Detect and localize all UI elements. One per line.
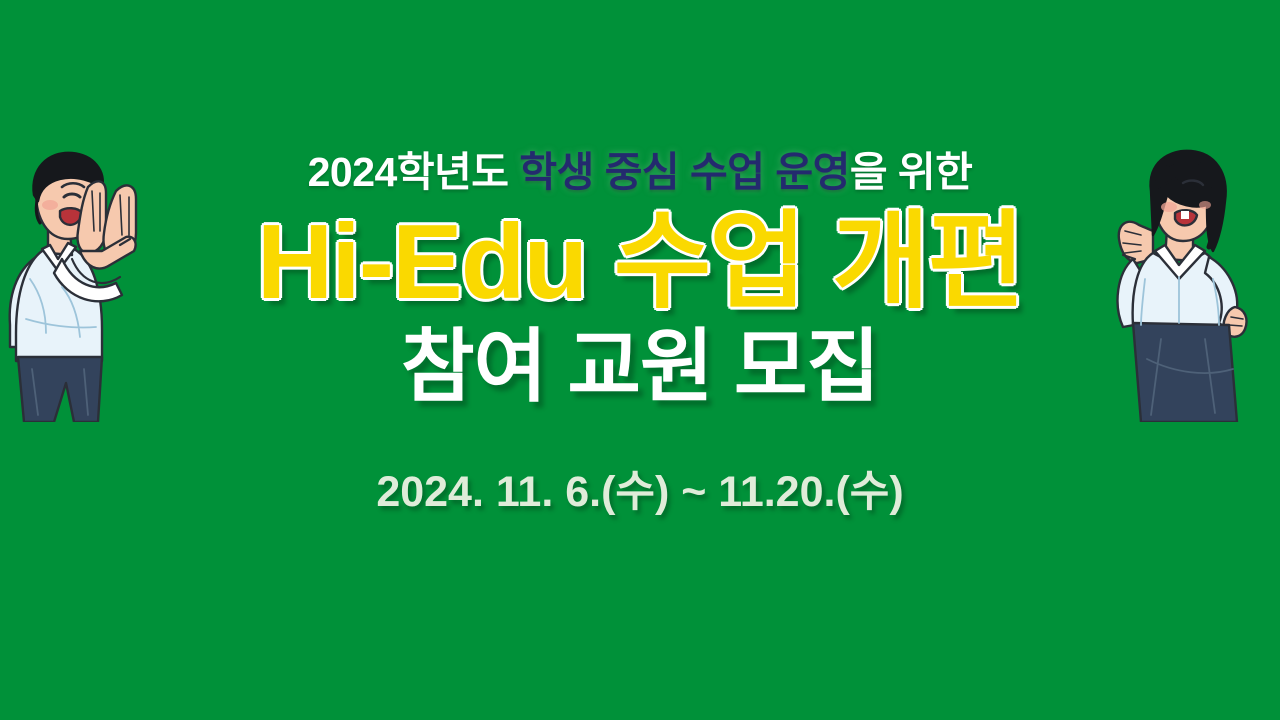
poster-banner: 2024학년도 학생 중심 수업 운영을 위한 Hi-Edu 수업 개편 참여 … (0, 0, 1280, 720)
eyebrow-line: 2024학년도 학생 중심 수업 운영을 위한 (0, 148, 1280, 196)
recruitment-date-range: 2024. 11. 6.(수) ~ 11.20.(수) (0, 466, 1280, 518)
eyebrow-part-highlight: 학생 중심 수업 운영 (519, 149, 849, 195)
eyebrow-part-suffix: 을 위한 (850, 149, 973, 195)
headline-title: Hi-Edu 수업 개편 (0, 204, 1280, 320)
poster-text-block: 2024학년도 학생 중심 수업 운영을 위한 Hi-Edu 수업 개편 참여 … (0, 0, 1280, 720)
eyebrow-part-year: 2024학년도 (308, 149, 520, 195)
subheadline-title: 참여 교원 모집 (0, 322, 1280, 412)
